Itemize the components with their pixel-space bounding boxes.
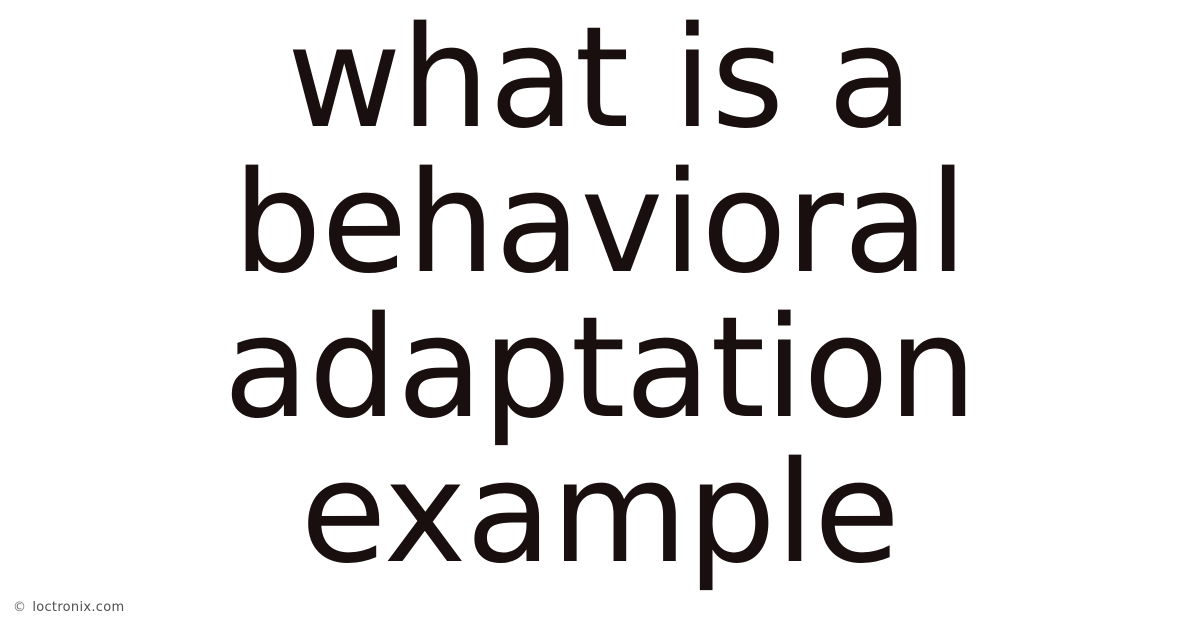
headline-block: what is a behavioral adaptation example — [0, 0, 1200, 590]
headline-line-2: behavioral — [0, 151, 1200, 296]
headline-line-1: what is a — [0, 6, 1200, 151]
headline-line-3: adaptation — [0, 296, 1200, 441]
copyright-icon: © — [13, 601, 26, 615]
footer-site-name: loctronix.com — [32, 601, 124, 615]
poster-canvas: what is a behavioral adaptation example … — [0, 0, 1200, 628]
footer-watermark: © loctronix.com — [13, 601, 124, 615]
headline-line-4: example — [0, 441, 1200, 586]
